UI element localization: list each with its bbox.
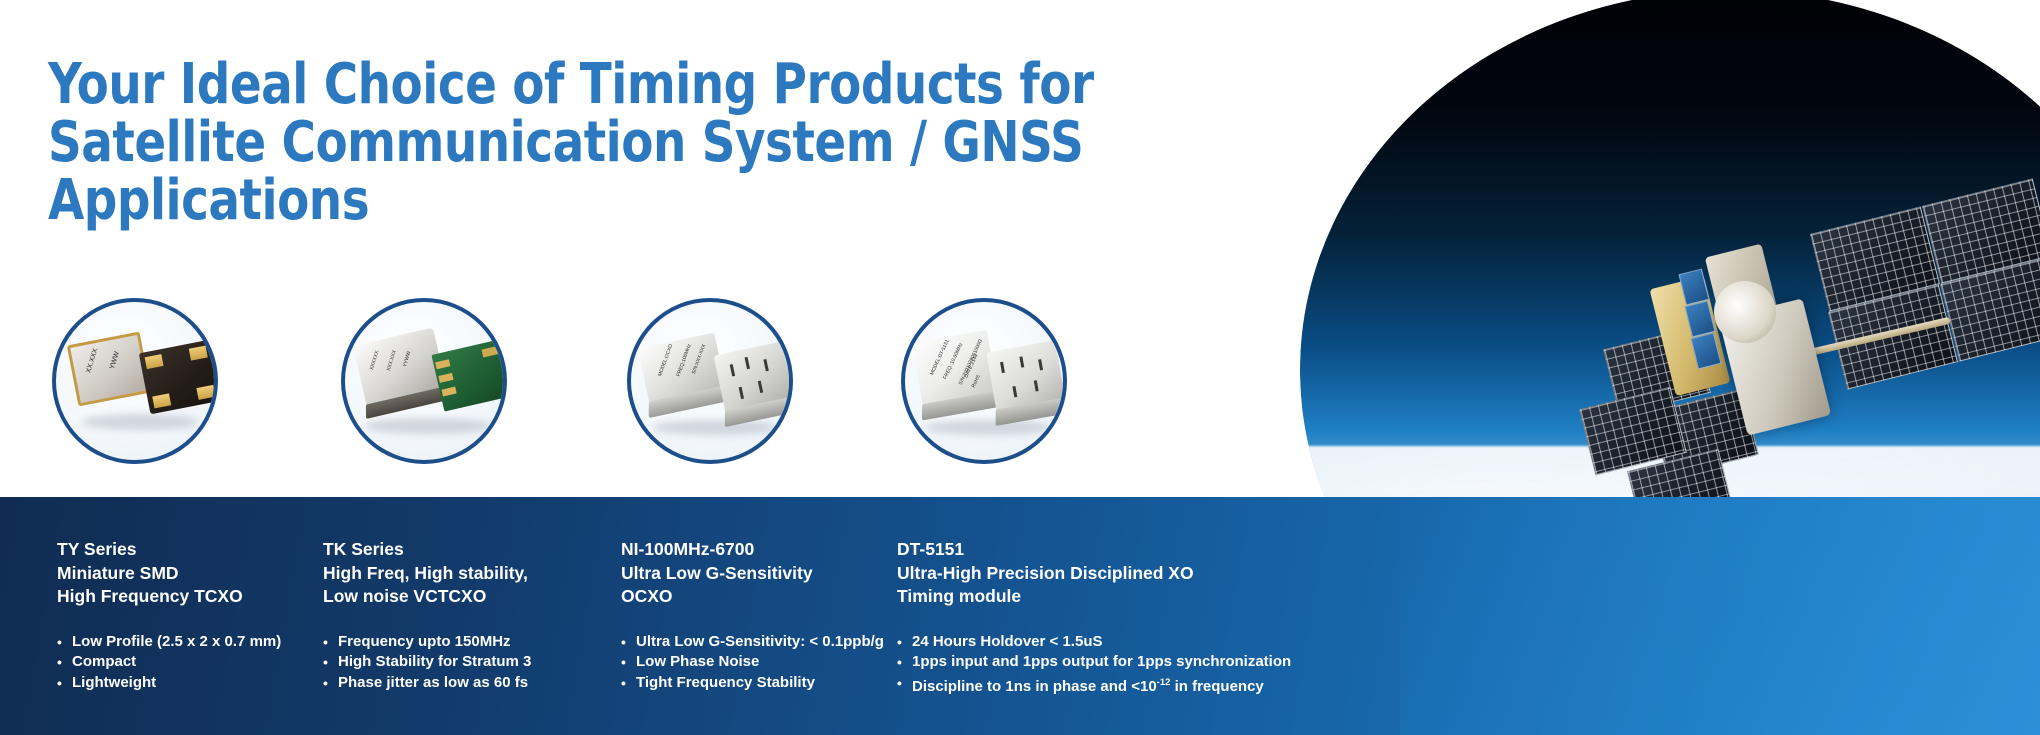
vctcxo-pcb [431,338,507,411]
drop-shadow [365,418,491,434]
list-item: Discipline to 1ns in phase and <10-12 in… [897,673,1291,698]
product-title-line: Ultra Low G-Sensitivity [621,562,884,586]
list-item: Compact [57,652,281,673]
list-item: Phase jitter as low as 60 fs [323,673,531,694]
product-title-line: NI-100MHz-6700 [621,538,884,562]
product-title-line: Miniature SMD [57,562,281,586]
headline-line-3: Applications [48,172,1220,230]
product-title-line: Timing module [897,585,1291,609]
smd-package-silver: XX.XXX YWW [67,332,151,407]
product-text-ocxo: NI-100MHz-6700 Ultra Low G-Sensitivity O… [621,538,884,693]
satellite-illustration [1622,185,2040,545]
product-title-line: High Freq, High stability, [323,562,531,586]
product-image-ty-series[interactable]: XX.XXX YWW [52,298,218,464]
list-item: 24 Hours Holdover < 1.5uS [897,632,1291,653]
ocxo-can-labeled: MODEL:OCXO FREQ:100MHz S/N:XXX-XXX [638,333,726,406]
product-title-line: TY Series [57,538,281,562]
product-title: DT-5151 Ultra-High Precision Disciplined… [897,538,1291,609]
product-title-line: Low noise VCTCXO [323,585,531,609]
product-title: NI-100MHz-6700 Ultra Low G-Sensitivity O… [621,538,884,609]
drop-shadow [82,414,198,430]
product-feature-list: Low Profile (2.5 x 2 x 0.7 mm) Compact L… [57,632,281,694]
product-feature-list: Frequency upto 150MHz High Stability for… [323,632,531,694]
smd-package-dark [139,340,218,415]
list-item: 1pps input and 1pps output for 1pps sync… [897,652,1291,673]
product-feature-list: 24 Hours Holdover < 1.5uS 1pps input and… [897,632,1291,698]
product-text-ty-series: TY Series Miniature SMD High Frequency T… [57,538,281,693]
headline-line-1: Your Ideal Choice of Timing Products for [48,56,1220,114]
list-item: Low Profile (2.5 x 2 x 0.7 mm) [57,632,281,653]
product-image-dt-5151[interactable]: MODEL:DT-5151 FREQ.:10.00MHz S/N:2021029… [901,298,1067,464]
vctcxo-metal-package: XXXXXX XXX.XXX YYWW [353,328,447,409]
list-item: Lightweight [57,673,281,694]
headline-line-2: Satellite Communication System / GNSS [48,114,1220,172]
drop-shadow [653,420,777,435]
product-image-tk-series[interactable]: XXXXXX XXX.XXX YYWW [341,298,507,464]
product-title: TK Series High Freq, High stability, Low… [323,538,531,609]
product-title-line: Ultra-High Precision Disciplined XO [897,562,1291,586]
product-title-line: OCXO [621,585,884,609]
dt5151-module-labeled: MODEL:DT-5151 FREQ.:10.00MHz S/N:2021029… [912,330,998,408]
product-image-ocxo[interactable]: MODEL:OCXO FREQ:100MHz S/N:XXX-XXX [627,298,793,464]
list-item: Low Phase Noise [621,652,884,673]
list-item: Ultra Low G-Sensitivity: < 0.1ppb/g [621,632,884,653]
list-item: Frequency upto 150MHz [323,632,531,653]
product-feature-list: Ultra Low G-Sensitivity: < 0.1ppb/g Low … [621,632,884,694]
product-title-line: High Frequency TCXO [57,585,281,609]
product-text-dt-5151: DT-5151 Ultra-High Precision Disciplined… [897,538,1291,697]
ocxo-can-pins [714,341,793,414]
dt5151-module-pins [986,340,1066,413]
product-title: TY Series Miniature SMD High Frequency T… [57,538,281,609]
product-band-glow [1400,497,2040,735]
banner-root: Your Ideal Choice of Timing Products for… [0,0,2040,735]
list-item: High Stability for Stratum 3 [323,652,531,673]
product-title-line: DT-5151 [897,538,1291,562]
page-title: Your Ideal Choice of Timing Products for… [48,56,1220,230]
drop-shadow [925,420,1051,435]
product-title-line: TK Series [323,538,531,562]
list-item: Tight Frequency Stability [621,673,884,694]
product-text-tk-series: TK Series High Freq, High stability, Low… [323,538,531,693]
